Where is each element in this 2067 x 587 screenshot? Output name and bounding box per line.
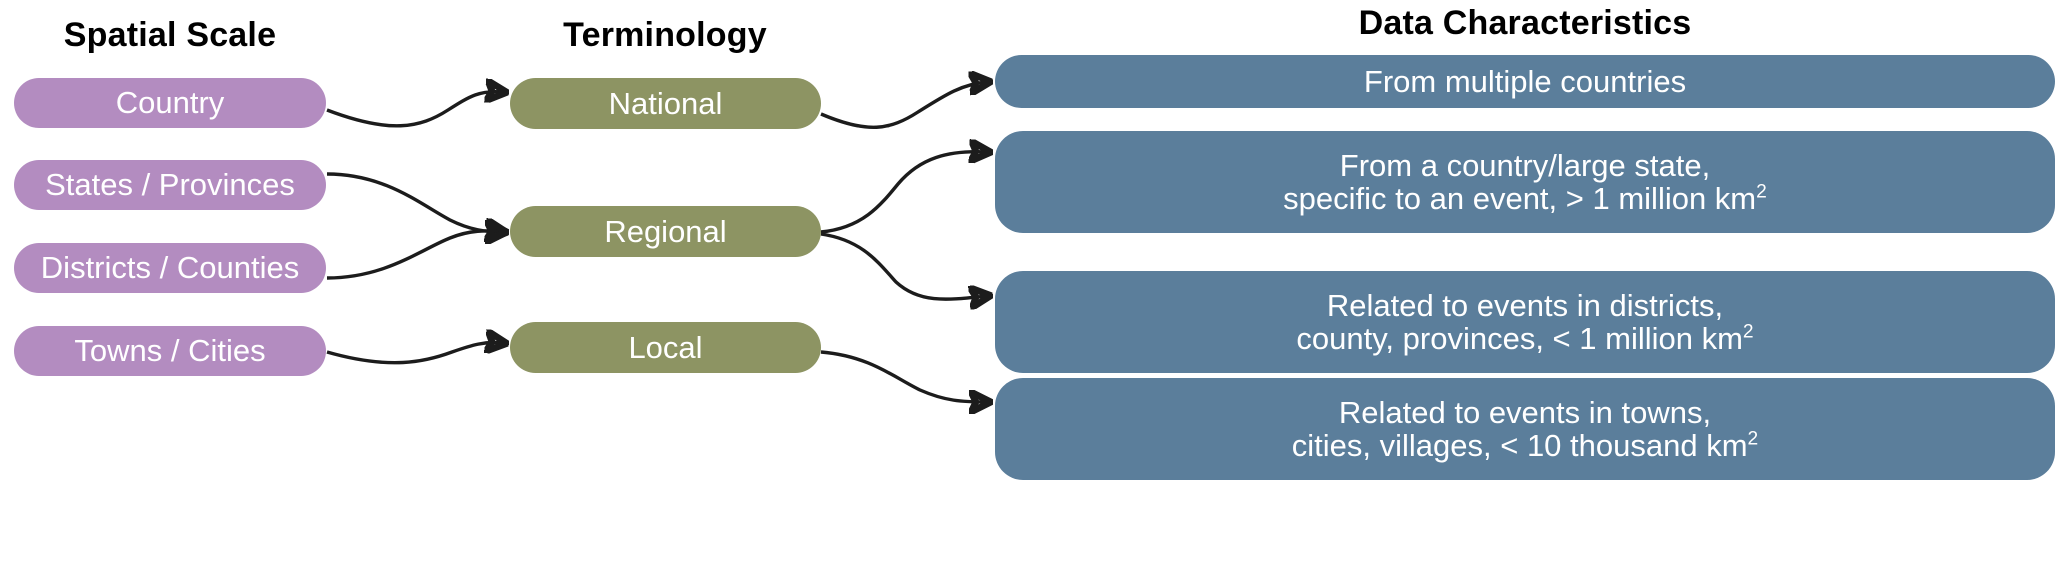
data-characteristic-box-1[interactable]: From multiple countries	[995, 55, 2055, 108]
data-characteristic-line-2: county, provinces, < 1 million km2	[1296, 322, 1753, 355]
spatial-scale-label: Districts / Counties	[41, 251, 299, 284]
connector-national-box1	[821, 82, 987, 127]
spatial-scale-item-country[interactable]: Country	[14, 78, 326, 128]
spatial-scale-label: Towns / Cities	[74, 334, 265, 367]
terminology-label: Local	[628, 331, 702, 364]
connector-regional-box3	[821, 234, 987, 299]
data-characteristic-line-2: specific to an event, > 1 million km2	[1283, 182, 1767, 215]
connector-regional-box2	[821, 152, 987, 232]
terminology-item-regional[interactable]: Regional	[510, 206, 821, 257]
connector-towns-local	[327, 342, 503, 362]
terminology-item-local[interactable]: Local	[510, 322, 821, 373]
connector-states-regional	[327, 174, 503, 232]
spatial-scale-item-towns-cities[interactable]: Towns / Cities	[14, 326, 326, 376]
column-header-spatial-scale: Spatial Scale	[14, 18, 326, 52]
data-characteristic-line-1: From multiple countries	[1364, 65, 1686, 98]
spatial-scale-label: Country	[116, 86, 225, 119]
spatial-scale-item-states-provinces[interactable]: States / Provinces	[14, 160, 326, 210]
data-characteristic-box-3[interactable]: Related to events in districts, county, …	[995, 271, 2055, 373]
line-2-text: specific to an event, > 1 million km	[1283, 181, 1756, 216]
superscript: 2	[1743, 322, 1754, 343]
line-2-text: cities, villages, < 10 thousand km	[1292, 428, 1748, 463]
column-header-data-characteristics: Data Characteristics	[995, 6, 2055, 40]
data-characteristic-box-2[interactable]: From a country/large state, specific to …	[995, 131, 2055, 233]
column-header-terminology: Terminology	[510, 18, 820, 52]
data-characteristic-line-2: cities, villages, < 10 thousand km2	[1292, 429, 1758, 462]
line-2-text: county, provinces, < 1 million km	[1296, 321, 1743, 356]
spatial-scale-item-districts-counties[interactable]: Districts / Counties	[14, 243, 326, 293]
superscript: 2	[1756, 182, 1767, 203]
data-characteristic-line-1: From a country/large state,	[1340, 149, 1710, 182]
superscript: 2	[1748, 429, 1759, 450]
connector-country-national	[327, 92, 503, 126]
terminology-item-national[interactable]: National	[510, 78, 821, 129]
spatial-scale-label: States / Provinces	[45, 168, 295, 201]
connector-local-box4	[821, 352, 987, 402]
connector-districts-regional	[327, 231, 503, 278]
data-characteristic-box-4[interactable]: Related to events in towns, cities, vill…	[995, 378, 2055, 480]
data-characteristic-line-1: Related to events in towns,	[1339, 396, 1711, 429]
terminology-label: National	[609, 87, 723, 120]
diagram-canvas: Spatial Scale Terminology Data Character…	[0, 0, 2067, 587]
data-characteristic-line-1: Related to events in districts,	[1327, 289, 1723, 322]
terminology-label: Regional	[604, 215, 726, 248]
